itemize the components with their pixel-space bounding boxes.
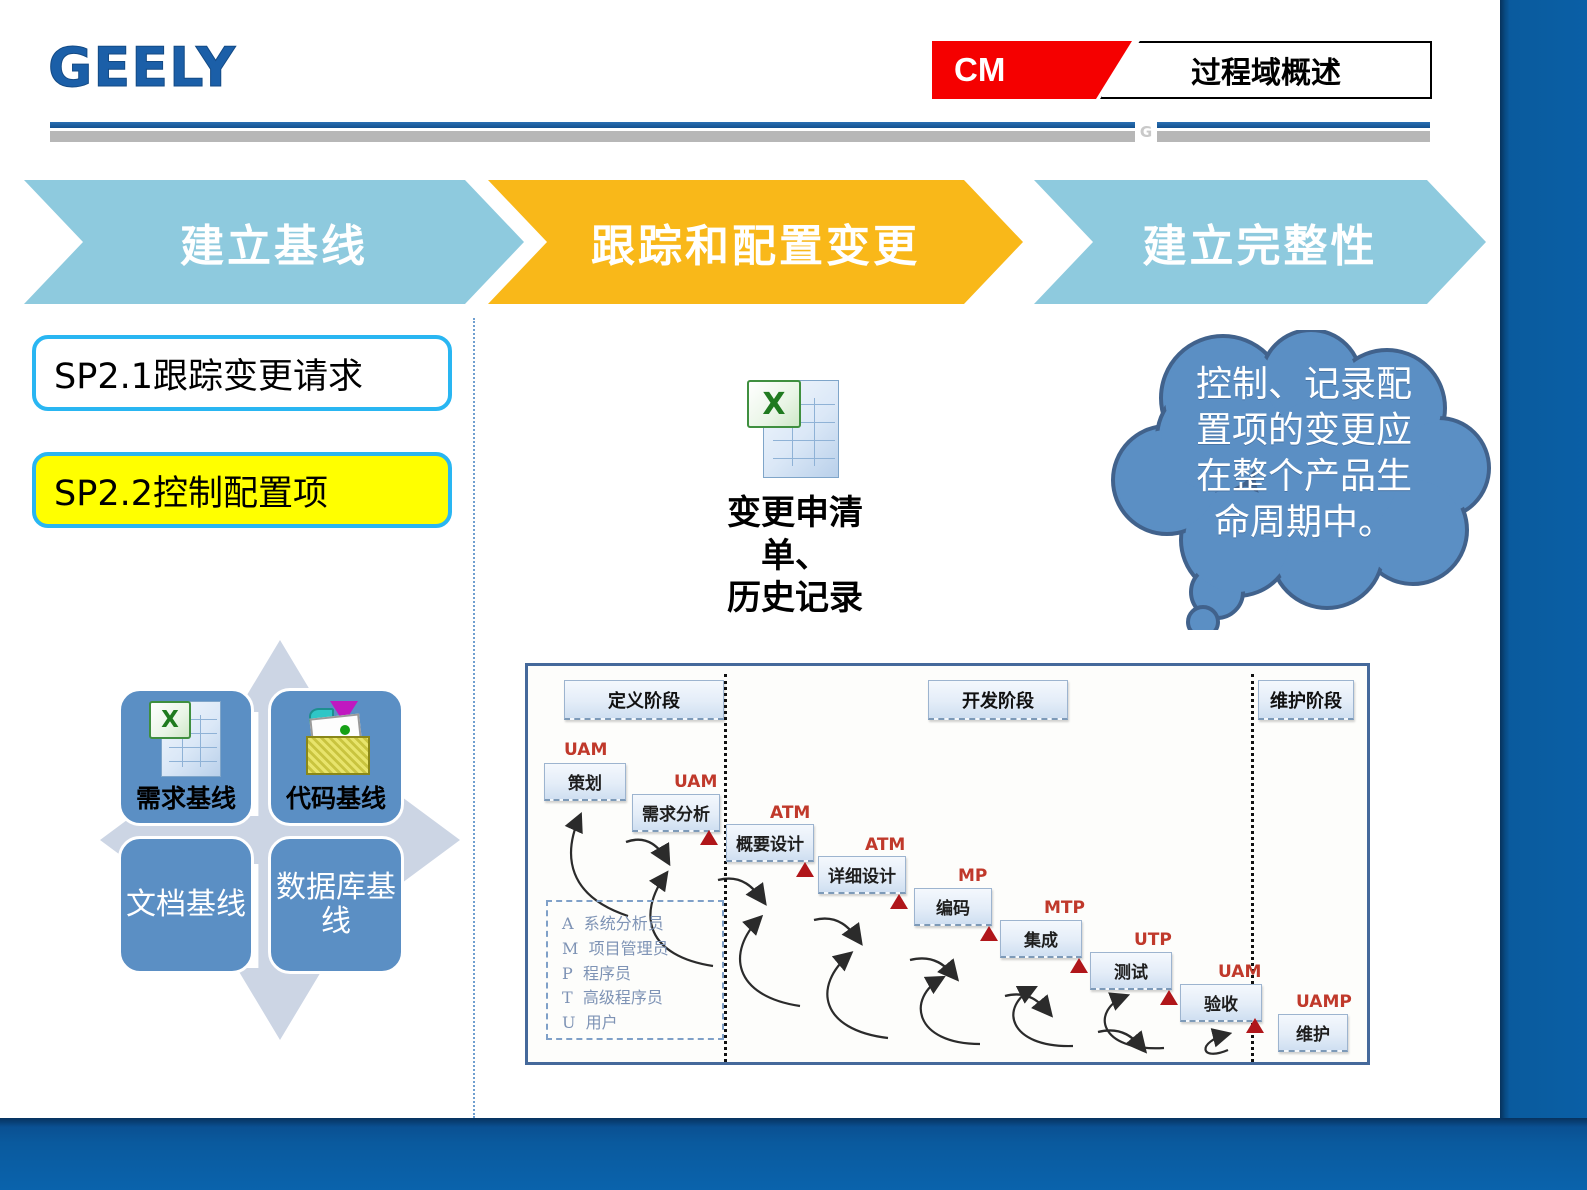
baseline-card-code-label: 代码基线 [286, 779, 386, 815]
practice-item-sp21-label: SP2.1跟踪变更请求 [54, 348, 363, 399]
thought-cloud-callout: 控制、记录配置项的变更应在整个产品生命周期中。 [1095, 330, 1500, 630]
legend-row: M 项目管理员 [562, 937, 722, 962]
header-divider-rule: G [50, 122, 1430, 142]
baseline-card-document-label: 文档基线 [126, 888, 246, 922]
milestone-triangle-7 [1246, 1018, 1264, 1033]
waterfall-tag-high-level-design: ATM [770, 803, 810, 823]
legend-code-u: U [562, 1013, 575, 1032]
waterfall-stage-acceptance[interactable]: 验收 [1180, 984, 1262, 1022]
geely-logo: GEELY [48, 36, 236, 99]
practice-item-sp22-label: SP2.2控制配置项 [54, 465, 328, 516]
toolbox-icon [299, 699, 373, 775]
excel-x-badge: X [747, 380, 801, 428]
baseline-group: X 需求基线 代码基线 文档基线 数据库基线 [100, 640, 460, 1040]
practice-item-sp21[interactable]: SP2.1跟踪变更请求 [32, 335, 452, 411]
change-record-artifact: X 变更申清单、 历史记录 [700, 378, 890, 620]
page-title: 过程域概述 [1100, 41, 1432, 99]
legend-role-u: 用户 [586, 1013, 618, 1032]
legend-code-a: A [562, 914, 574, 933]
waterfall-stage-testing[interactable]: 测试 [1090, 952, 1172, 990]
rule-blue-line [50, 122, 1430, 128]
waterfall-stage-coding[interactable]: 编码 [914, 888, 992, 926]
baseline-card-requirements-label: 需求基线 [136, 779, 236, 815]
waterfall-stage-planning[interactable]: 策划 [544, 763, 626, 801]
waterfall-tag-maintenance: UAMP [1296, 992, 1352, 1012]
process-step-chevrons: 建立基线 跟踪和配置变更 建立完整性 [24, 180, 1486, 304]
milestone-triangle-5 [1070, 958, 1088, 973]
change-record-caption: 变更申清单、 历史记录 [700, 492, 890, 620]
panel-divider [473, 318, 475, 1118]
rule-watermark-g: G [1135, 122, 1157, 142]
waterfall-stage-detailed-design[interactable]: 详细设计 [818, 856, 906, 894]
waterfall-phase-2: 开发阶段 [928, 680, 1068, 720]
slide-frame-right [1500, 0, 1587, 1190]
title-badge: CM 过程域概述 [932, 41, 1432, 99]
baseline-card-database[interactable]: 数据库基线 [268, 836, 404, 974]
waterfall-lifecycle-diagram: 定义阶段 开发阶段 维护阶段 策划 需求分析 概要设计 详细设计 编码 集成 测… [525, 663, 1370, 1065]
legend-row: A 系统分析员 [562, 912, 722, 937]
legend-row: T 高级程序员 [562, 986, 722, 1011]
baseline-card-database-label: 数据库基线 [271, 871, 401, 938]
legend-role-p: 程序员 [583, 964, 631, 983]
slide-content-area: GEELY CM 过程域概述 G 建立基线 跟踪和配置变更 建立完整性 [0, 0, 1500, 1118]
waterfall-tag-integration: MTP [1044, 898, 1085, 918]
excel-spreadsheet-icon: X [149, 699, 223, 777]
waterfall-stage-integration[interactable]: 集成 [1000, 920, 1082, 958]
excel-x-badge: X [149, 701, 191, 739]
legend-code-t: T [562, 988, 573, 1007]
waterfall-tag-requirements: UAM [674, 772, 717, 792]
baseline-card-requirements[interactable]: X 需求基线 [118, 688, 254, 826]
chevron-step-3[interactable]: 建立完整性 [1034, 180, 1486, 304]
milestone-triangle-2 [796, 862, 814, 877]
legend-role-t: 高级程序员 [583, 988, 663, 1007]
milestone-triangle-4 [980, 926, 998, 941]
milestone-triangle-6 [1160, 990, 1178, 1005]
phase-separator-1 [724, 674, 727, 1062]
chevron-step-1[interactable]: 建立基线 [24, 180, 524, 304]
waterfall-tag-acceptance: UAM [1218, 962, 1261, 982]
legend-code-p: P [562, 964, 573, 983]
chevron-step-3-label: 建立完整性 [1143, 210, 1378, 274]
milestone-triangle-3 [890, 894, 908, 909]
chevron-step-2-label: 跟踪和配置变更 [591, 210, 920, 274]
chevron-step-1-label: 建立基线 [180, 210, 368, 274]
waterfall-phase-3: 维护阶段 [1258, 680, 1354, 720]
excel-spreadsheet-icon: X [747, 378, 843, 478]
baseline-card-code[interactable]: 代码基线 [268, 688, 404, 826]
process-area-code: CM [932, 41, 1132, 99]
legend-row: U 用户 [562, 1011, 722, 1036]
waterfall-tag-detailed-design: ATM [865, 835, 905, 855]
waterfall-tag-planning: UAM [564, 740, 607, 760]
chevron-step-2-active[interactable]: 跟踪和配置变更 [488, 180, 1023, 304]
rule-gray-line [50, 131, 1430, 142]
waterfall-tag-testing: UTP [1134, 930, 1172, 950]
legend-role-m: 项目管理员 [589, 939, 669, 958]
slide-root: GEELY CM 过程域概述 G 建立基线 跟踪和配置变更 建立完整性 [0, 0, 1587, 1190]
waterfall-role-legend: A 系统分析员 M 项目管理员 P 程序员 T 高级程序员 U 用 [546, 900, 724, 1040]
legend-code-m: M [562, 939, 578, 958]
practice-item-sp22[interactable]: SP2.2控制配置项 [32, 452, 452, 528]
waterfall-tag-coding: MP [958, 866, 987, 886]
milestone-triangle-1 [700, 830, 718, 845]
legend-row: P 程序员 [562, 962, 722, 987]
legend-role-a: 系统分析员 [584, 914, 664, 933]
baseline-card-document[interactable]: 文档基线 [118, 836, 254, 974]
waterfall-phase-1: 定义阶段 [564, 680, 724, 720]
waterfall-stage-high-level-design[interactable]: 概要设计 [726, 824, 814, 862]
waterfall-stage-requirements[interactable]: 需求分析 [632, 794, 720, 832]
waterfall-stage-maintenance[interactable]: 维护 [1278, 1014, 1348, 1052]
slide-frame-bottom [0, 1118, 1587, 1190]
thought-cloud-text: 控制、记录配置项的变更应在整个产品生命周期中。 [1179, 362, 1429, 546]
